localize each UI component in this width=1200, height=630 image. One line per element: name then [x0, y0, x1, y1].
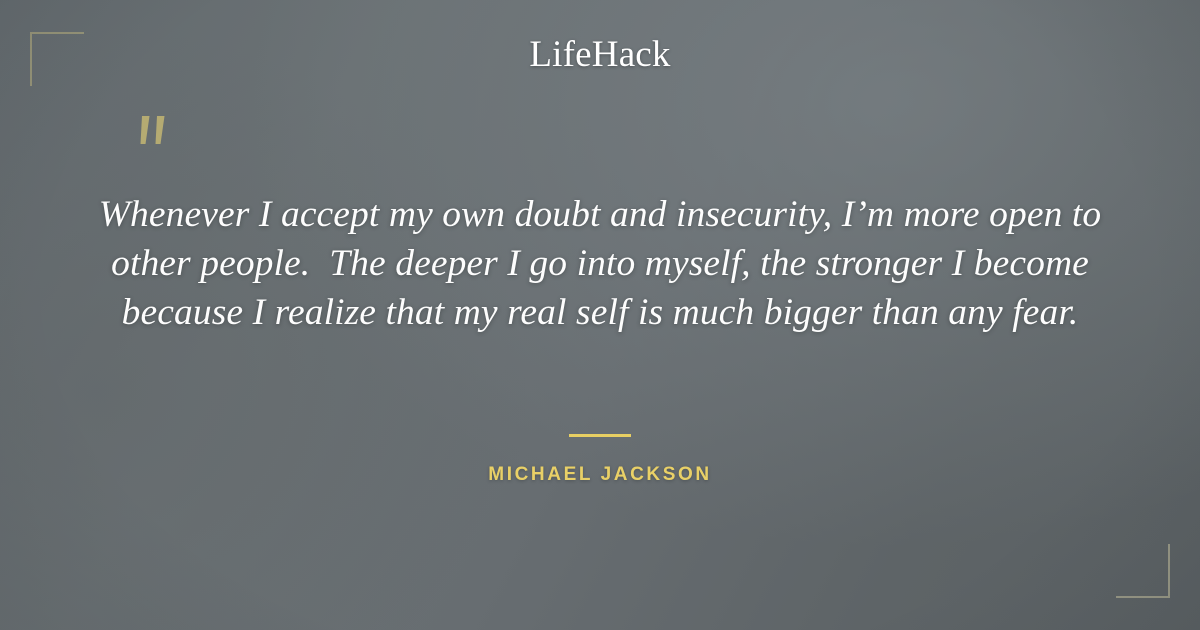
quote-author: MICHAEL JACKSON — [0, 464, 1200, 486]
quote-card: LifeHack Whenever I accept my own doubt … — [0, 0, 1200, 630]
quote-text: Whenever I accept my own doubt and insec… — [95, 190, 1105, 337]
lifehack-logo: LifeHack — [0, 36, 1200, 73]
double-quote-mark-icon — [128, 112, 180, 164]
divider-rule — [569, 434, 631, 437]
corner-bracket-bottom-right — [1116, 544, 1170, 598]
